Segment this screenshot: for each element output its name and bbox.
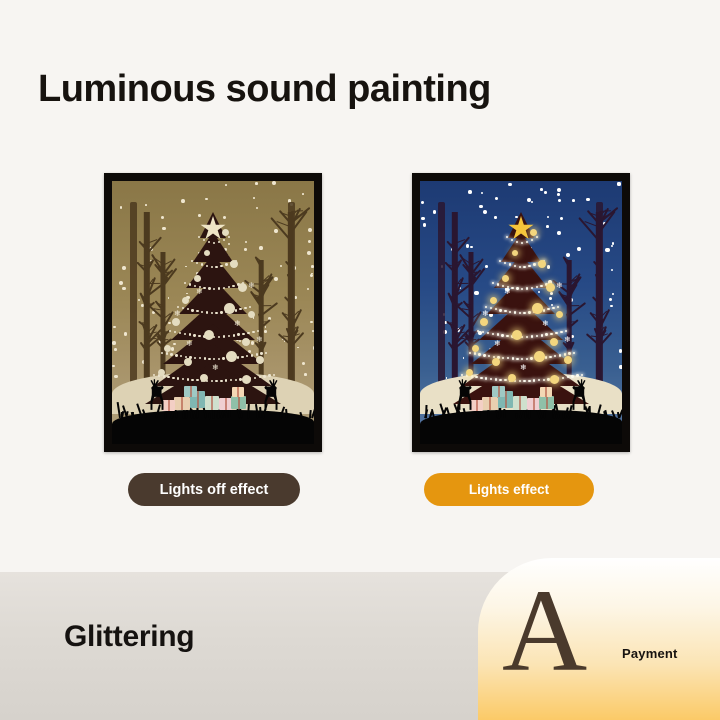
- tree-ornament: [550, 375, 559, 384]
- tree-ornament: [230, 260, 238, 268]
- deer-silhouette: [566, 378, 592, 411]
- artwork-lights-off: ❄❄❄❄❄❄❄: [112, 181, 314, 444]
- tree-ornament: [204, 330, 214, 340]
- promo-page: Luminous sound painting ❄❄❄❄❄❄❄ ❄❄❄❄❄❄❄ …: [0, 0, 720, 720]
- snowflake-decoration: ❄: [542, 320, 549, 328]
- deer-silhouette: [452, 378, 478, 411]
- footer-label: Glittering: [64, 620, 194, 654]
- payment-label: Payment: [622, 646, 678, 661]
- snowflake-decoration: ❄: [248, 282, 255, 290]
- tree-ornament: [256, 356, 264, 364]
- night-sky-unlit: ❄❄❄❄❄❄❄: [112, 181, 314, 444]
- tree-ornament: [224, 303, 235, 314]
- tree-ornament: [546, 283, 555, 292]
- tree-ornament: [550, 338, 558, 346]
- christmas-tree: ❄❄❄❄❄❄❄: [138, 203, 288, 388]
- tree-ornament: [564, 356, 572, 364]
- payment-panel[interactable]: A Payment: [478, 558, 720, 720]
- artwork-lights-on: ❄❄❄❄❄❄❄: [420, 181, 622, 444]
- tree-ornament: [490, 297, 497, 304]
- tree-ornament: [200, 374, 208, 382]
- tree-ornament: [204, 250, 210, 256]
- tree-ornament: [164, 345, 171, 352]
- tree-ornament: [172, 318, 180, 326]
- tree-ornament: [530, 229, 537, 236]
- tree-ornament: [502, 275, 509, 282]
- payment-monogram-a: A: [502, 572, 587, 690]
- tree-ornament: [512, 250, 518, 256]
- tree-ornament: [242, 338, 250, 346]
- snowflake-decoration: ❄: [556, 282, 563, 290]
- snowflake-decoration: ❄: [234, 320, 241, 328]
- product-card-lights-off[interactable]: ❄❄❄❄❄❄❄: [104, 173, 322, 452]
- tree-ornament: [480, 318, 488, 326]
- tree-ornament: [532, 303, 543, 314]
- tree-ornament: [194, 275, 201, 282]
- snowflake-decoration: ❄: [196, 288, 203, 296]
- christmas-tree: ❄❄❄❄❄❄❄: [446, 203, 596, 388]
- tree-ornament: [466, 369, 473, 376]
- snowflake-decoration: ❄: [520, 364, 527, 372]
- tree-ornament: [556, 311, 563, 318]
- product-card-lights-on[interactable]: ❄❄❄❄❄❄❄: [412, 173, 630, 452]
- snowflake-decoration: ❄: [186, 340, 193, 348]
- snowflake-decoration: ❄: [494, 340, 501, 348]
- tree-ornament: [248, 311, 255, 318]
- snowflake-decoration: ❄: [504, 288, 511, 296]
- deer-silhouette: [258, 378, 284, 411]
- snowflake-decoration: ❄: [174, 310, 181, 318]
- snowflake-decoration: ❄: [564, 336, 571, 344]
- tree-ornament: [534, 351, 545, 362]
- lights-effect-button[interactable]: Lights effect: [424, 473, 594, 506]
- tree-ornament: [472, 345, 479, 352]
- tree-ornament: [538, 260, 546, 268]
- tree-ornament: [158, 369, 165, 376]
- tree-ornament: [222, 229, 229, 236]
- tree-ornament: [508, 374, 516, 382]
- snowflake-decoration: ❄: [256, 336, 263, 344]
- picture-frame: ❄❄❄❄❄❄❄: [412, 173, 630, 452]
- night-sky-lit: ❄❄❄❄❄❄❄: [420, 181, 622, 444]
- tree-ornament: [512, 330, 522, 340]
- tree-ornament: [492, 358, 500, 366]
- tree-ornament: [226, 351, 237, 362]
- tree-ornament: [182, 297, 189, 304]
- deer-silhouette: [144, 378, 170, 411]
- tree-ornament: [242, 375, 251, 384]
- tree-ornament: [238, 283, 247, 292]
- snowflake-decoration: ❄: [212, 364, 219, 372]
- snowflake-decoration: ❄: [482, 310, 489, 318]
- page-title: Luminous sound painting: [38, 70, 491, 108]
- lights-off-effect-button[interactable]: Lights off effect: [128, 473, 300, 506]
- picture-frame: ❄❄❄❄❄❄❄: [104, 173, 322, 452]
- tree-ornament: [184, 358, 192, 366]
